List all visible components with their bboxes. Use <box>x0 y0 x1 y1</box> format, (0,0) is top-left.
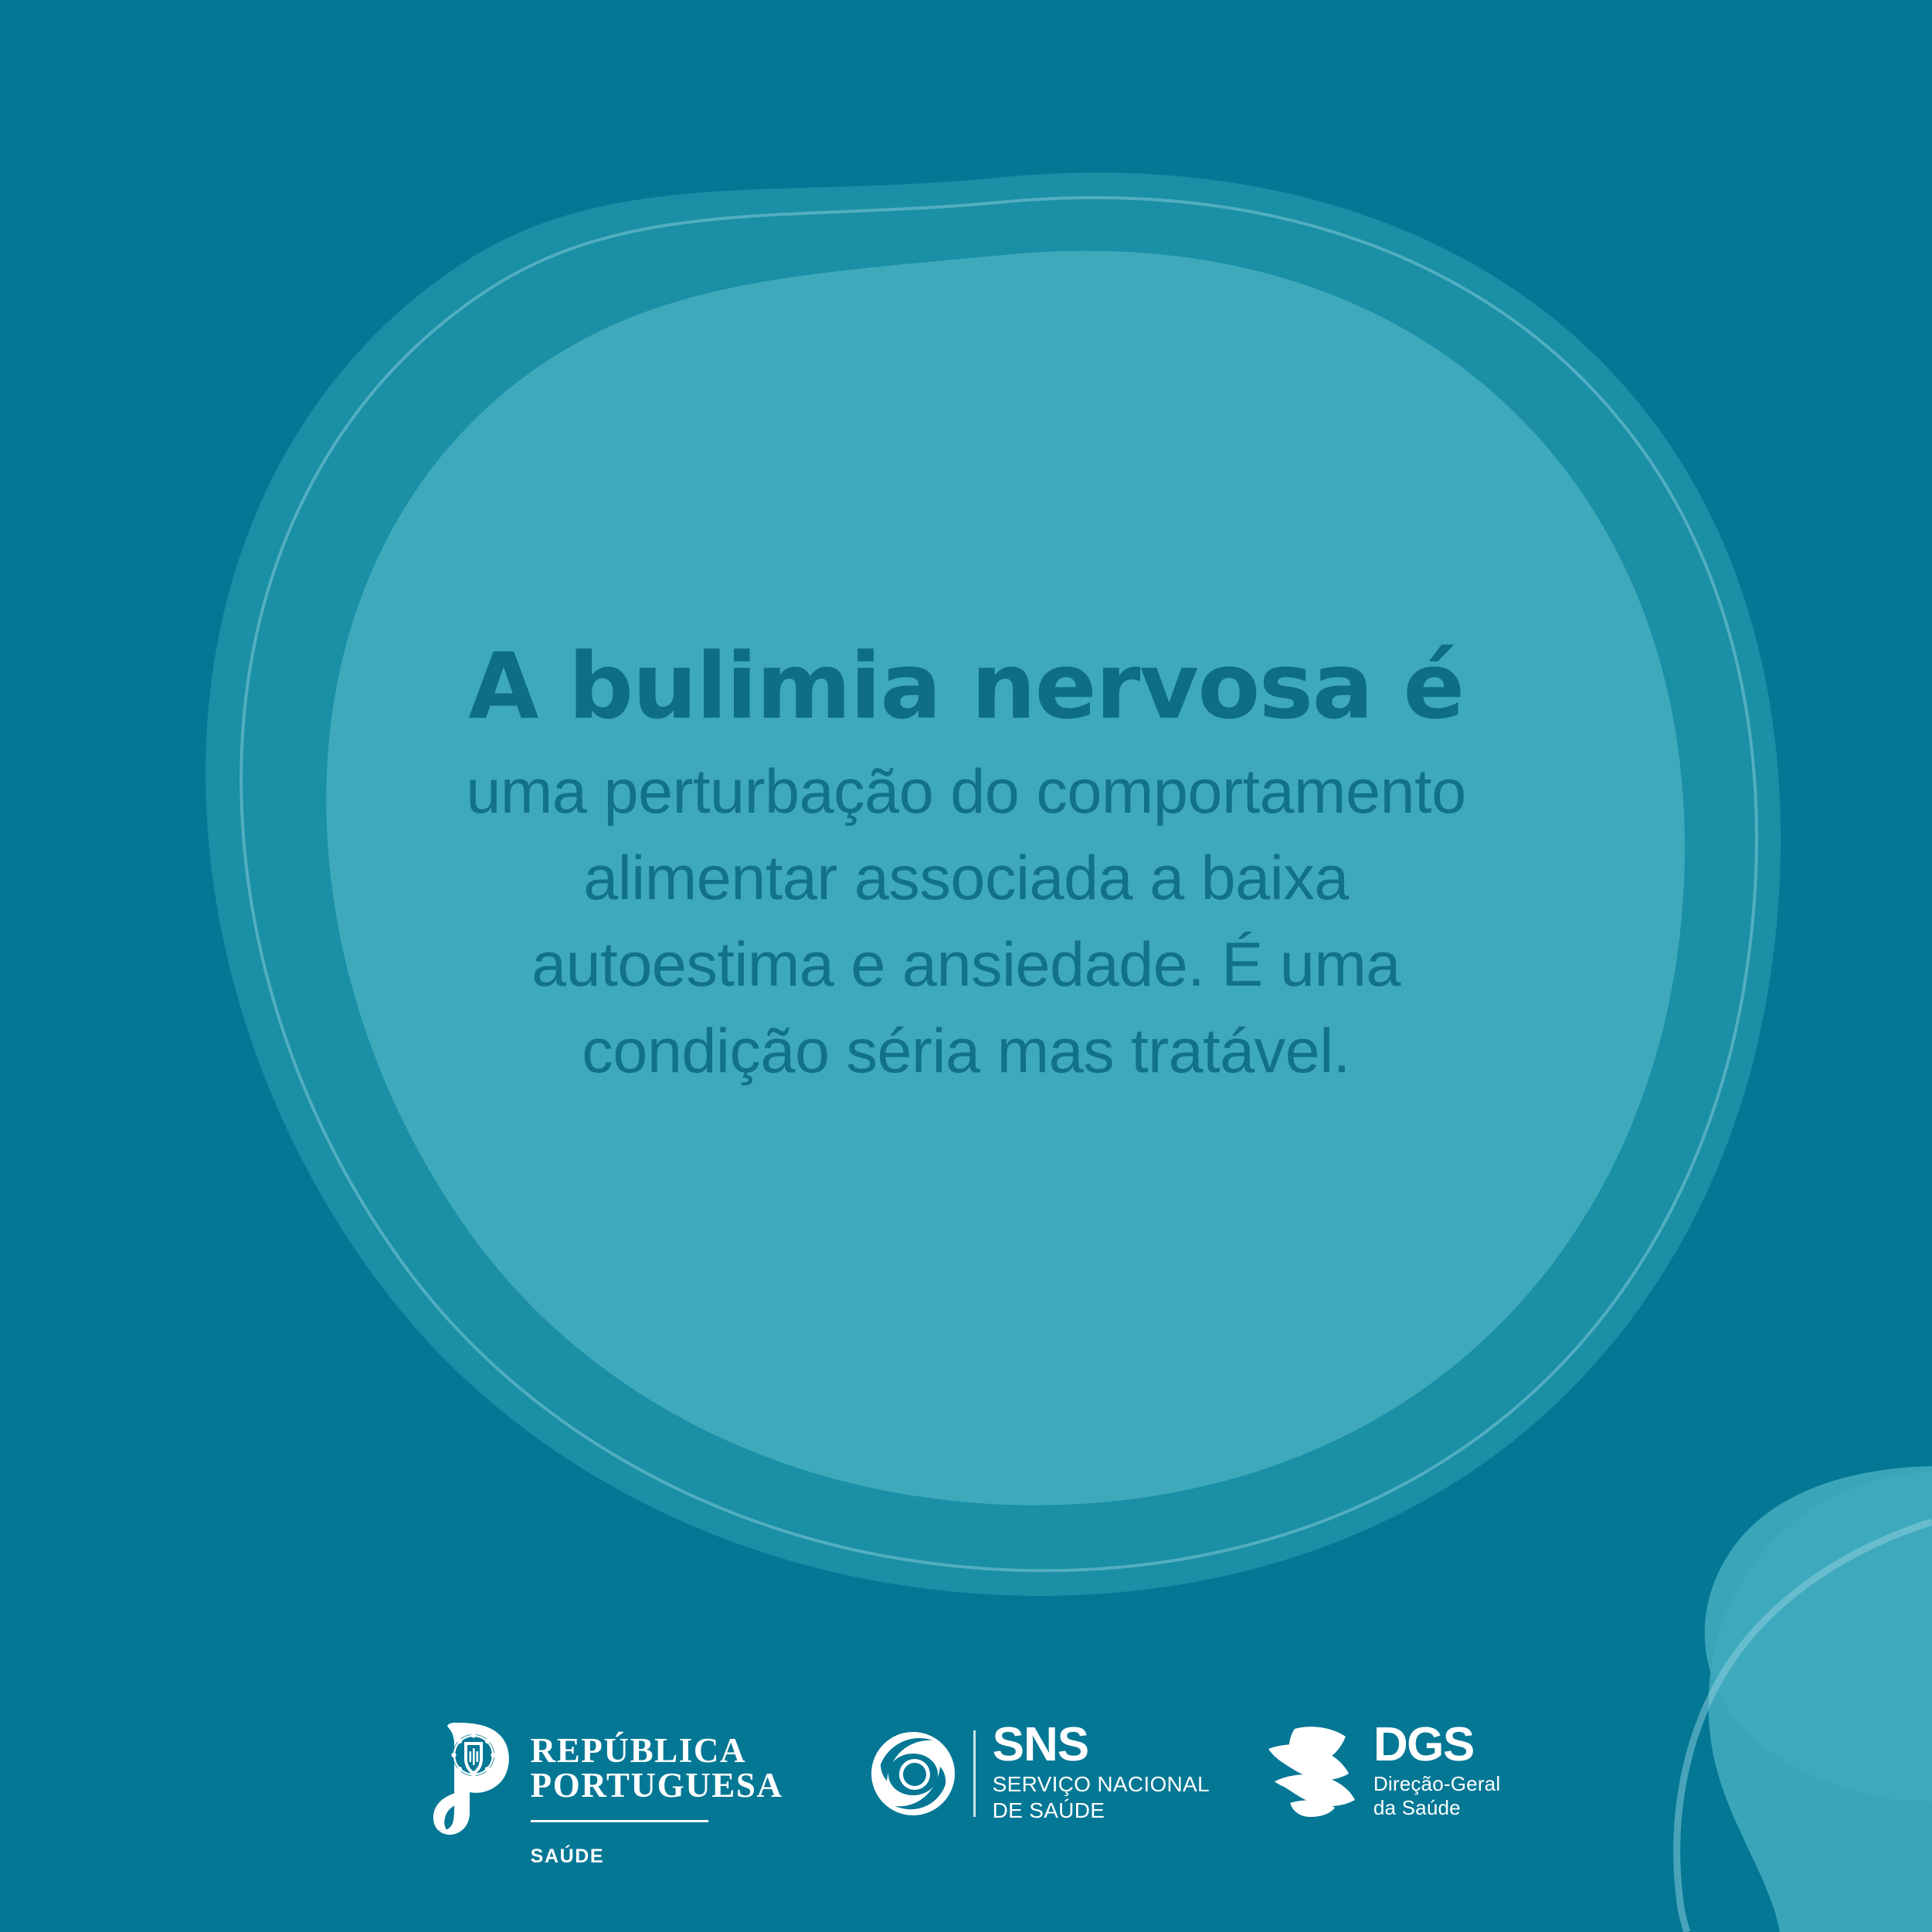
sns-text: SNS SERVIÇO NACIONAL DE SAÚDE <box>993 1723 1210 1824</box>
republica-portuguesa-divider <box>531 1820 708 1822</box>
sns-full-line-1: SERVIÇO NACIONAL <box>993 1771 1210 1798</box>
dgs-full-line-2: da Saúde <box>1373 1796 1500 1820</box>
body-line-2: alimentar associada a baixa <box>364 836 1569 922</box>
page-body-copy: uma perturbação do comportamento aliment… <box>364 749 1569 1095</box>
republica-portuguesa-subtitle: SAÚDE <box>531 1845 783 1868</box>
body-line-1: uma perturbação do comportamento <box>364 749 1569 836</box>
footer-logo-lockup: REPÚBLICA PORTUGUESA SAÚDE SNS <box>0 1721 1932 1932</box>
dgs-waves-icon <box>1264 1726 1361 1817</box>
dgs-acronym: DGS <box>1373 1723 1500 1768</box>
sns-full-name: SERVIÇO NACIONAL DE SAÚDE <box>993 1771 1210 1824</box>
republica-portuguesa-wordmark: REPÚBLICA PORTUGUESA <box>531 1733 783 1803</box>
republica-portuguesa-text: REPÚBLICA PORTUGUESA SAÚDE <box>531 1721 783 1868</box>
sns-swirl-icon <box>870 1730 956 1817</box>
logo-republica-portuguesa: REPÚBLICA PORTUGUESA SAÚDE <box>432 1721 783 1868</box>
sns-divider <box>973 1730 976 1817</box>
logo-dgs: DGS Direção-Geral da Saúde <box>1264 1721 1500 1820</box>
message-block: A bulimia nervosa é uma perturbação do c… <box>364 640 1569 1095</box>
republica-portuguesa-shield-icon <box>432 1721 515 1835</box>
poster-canvas: A bulimia nervosa é uma perturbação do c… <box>0 0 1932 1932</box>
body-line-3: autoestima e ansiedade. É uma <box>364 922 1569 1009</box>
rp-wordmark-line-2: PORTUGUESA <box>531 1768 783 1803</box>
sns-full-line-2: DE SAÚDE <box>993 1798 1210 1824</box>
dgs-text: DGS Direção-Geral da Saúde <box>1373 1723 1500 1820</box>
dgs-full-line-1: Direção-Geral <box>1373 1772 1500 1796</box>
sns-acronym: SNS <box>993 1723 1210 1767</box>
rp-wordmark-line-1: REPÚBLICA <box>531 1733 783 1768</box>
page-headline: A bulimia nervosa é <box>364 640 1569 732</box>
dgs-full-name: Direção-Geral da Saúde <box>1373 1772 1500 1820</box>
body-line-4: condição séria mas tratável. <box>364 1009 1569 1095</box>
logo-sns: SNS SERVIÇO NACIONAL DE SAÚDE <box>870 1721 1210 1824</box>
